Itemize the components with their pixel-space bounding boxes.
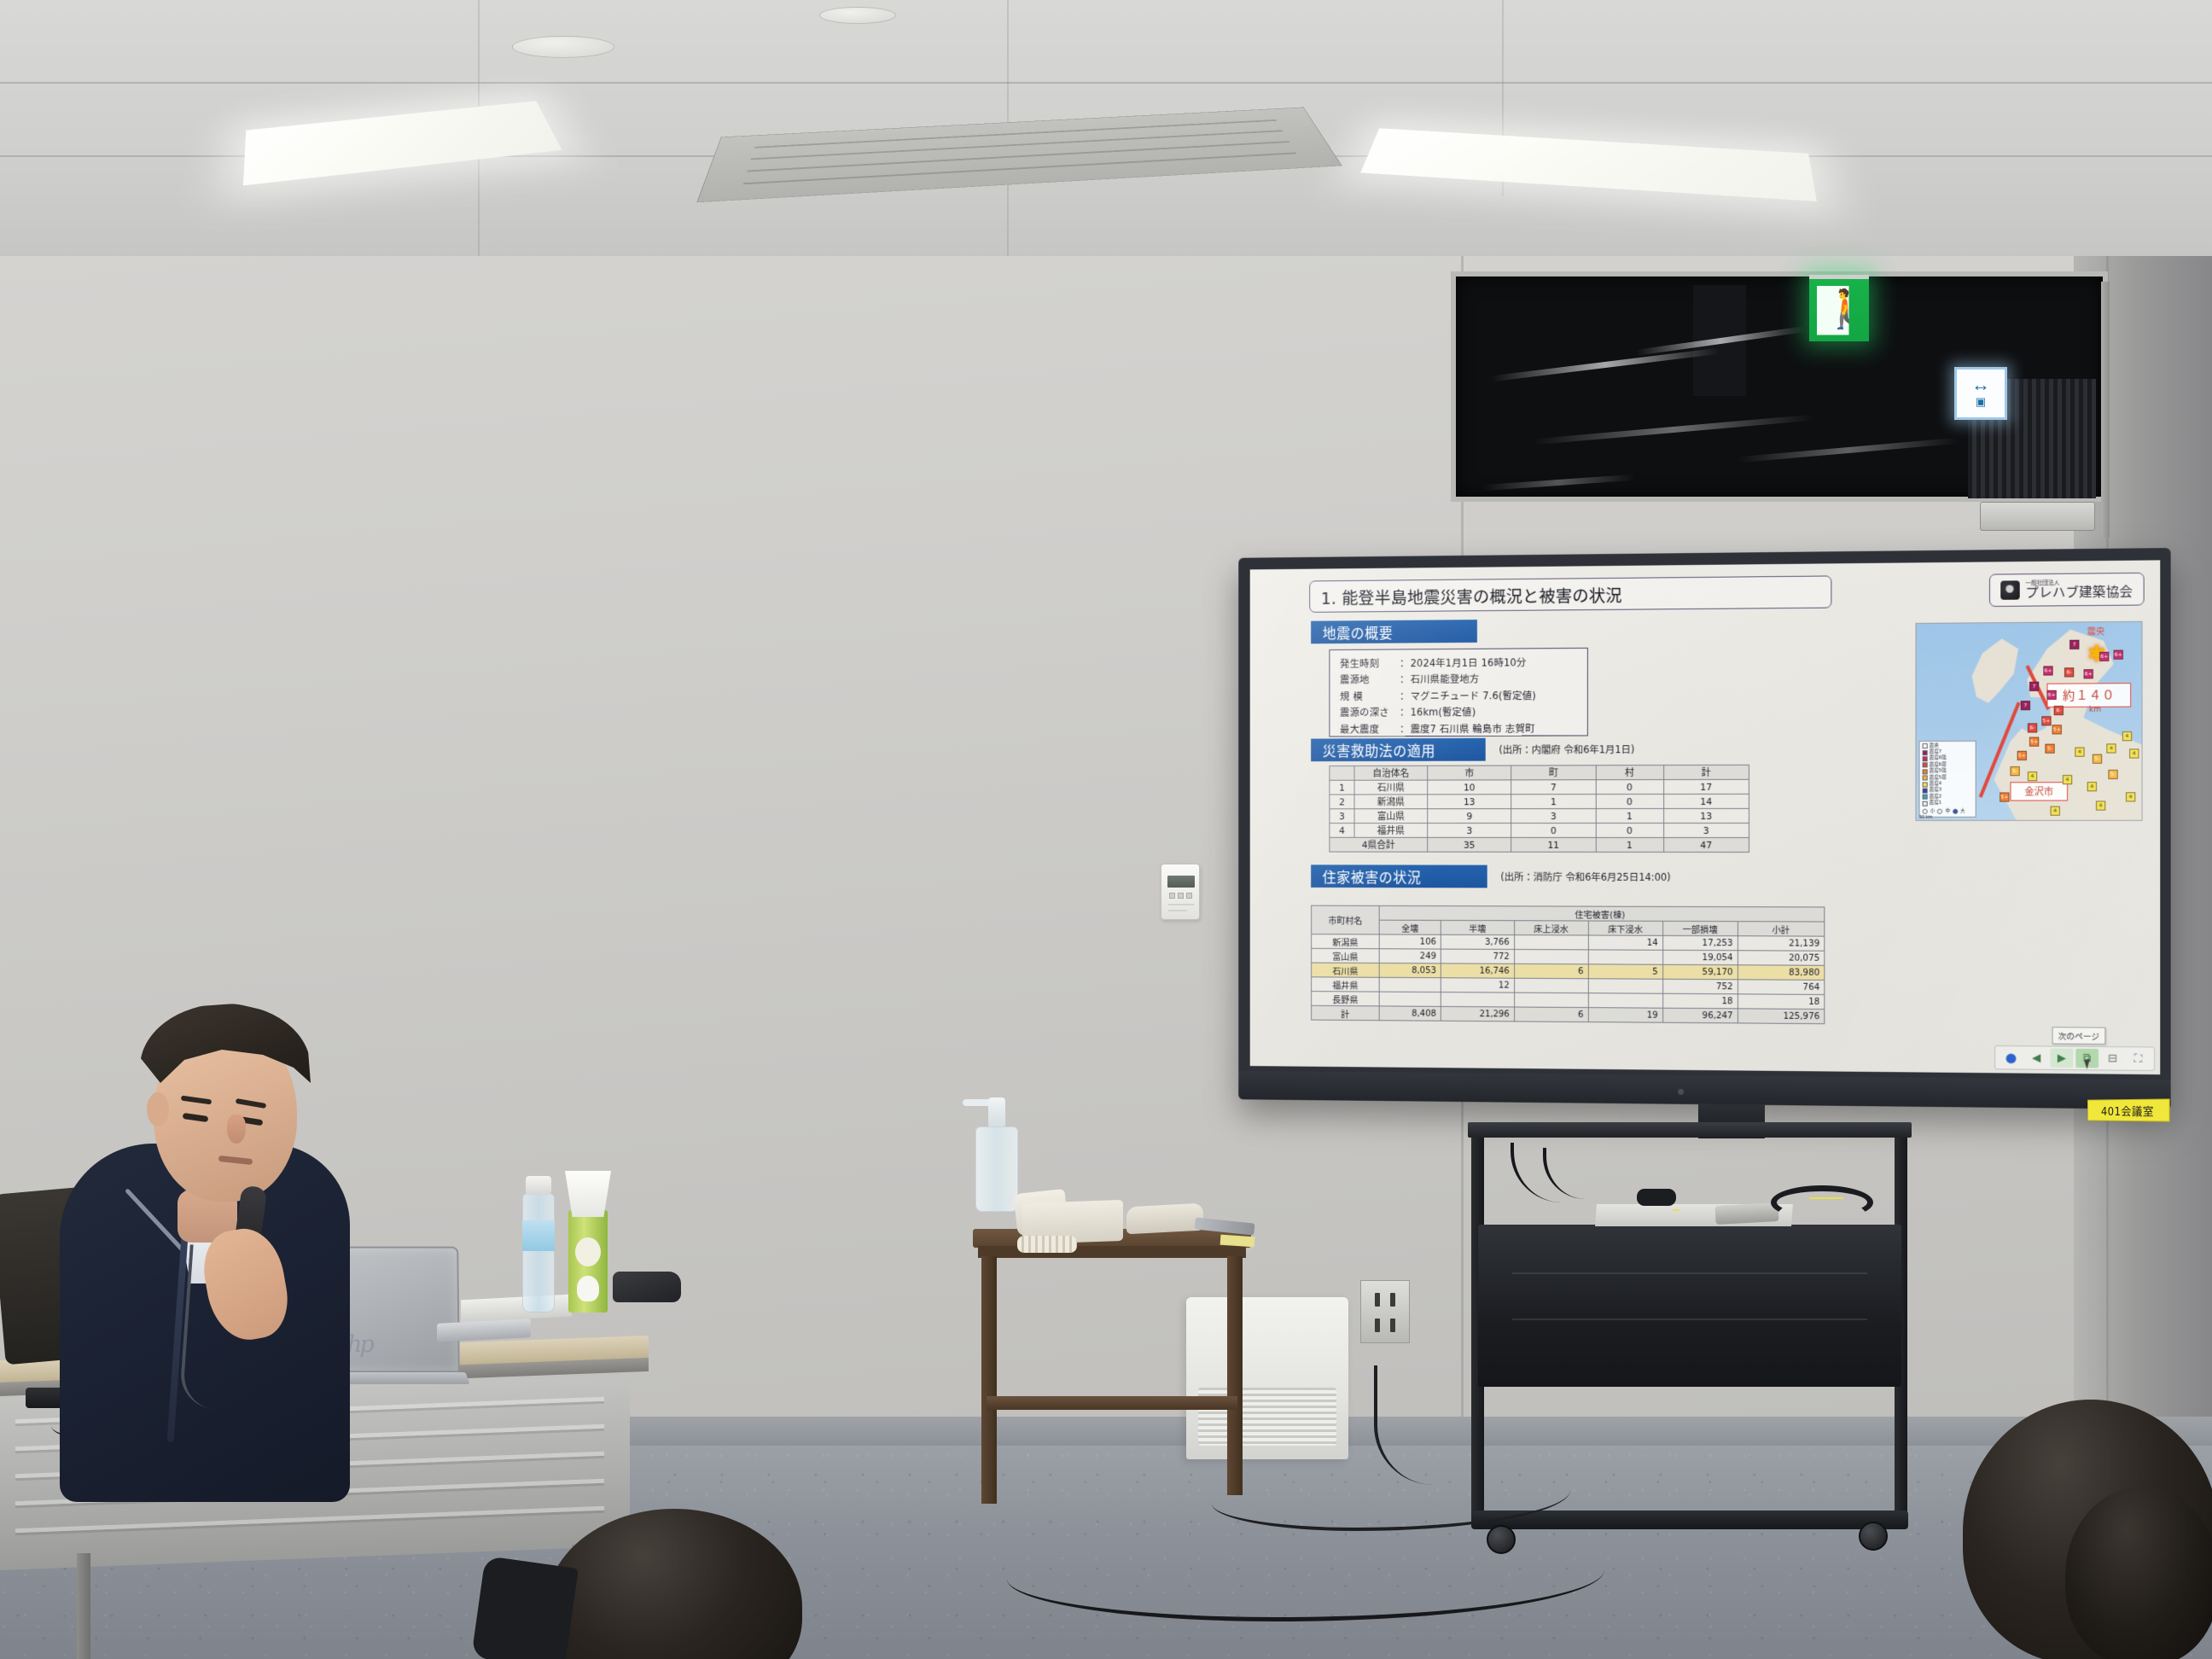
relief-source: (出所：内閣府 令和6年1月1日) bbox=[1499, 742, 1634, 756]
presentation-display[interactable]: 1. 能登半島地震災害の概況と被害の状況 一般社団法人 プレハブ建築協会 地震の… bbox=[1238, 548, 2170, 1109]
association-logo: 一般社団法人 プレハブ建築協会 bbox=[1989, 573, 2145, 607]
map-intensity-marker: 6+ bbox=[2114, 650, 2123, 660]
relief-law-table: 自治体名 市 町 村 計 1 石川県 10 7 0 17 bbox=[1329, 765, 1749, 853]
association-logo-icon bbox=[2000, 580, 2019, 599]
double-arrow-icon: ↔ bbox=[1971, 376, 1990, 393]
map-intensity-marker: 5- bbox=[2045, 744, 2054, 754]
map-intensity-marker: 4 bbox=[2096, 800, 2105, 810]
map-intensity-marker: 6- bbox=[2064, 667, 2074, 677]
ac-lcd-display bbox=[1167, 876, 1195, 888]
table-total-row: 計 8,408 21,296 6 19 96,247 125,976 bbox=[1312, 1005, 1825, 1023]
map-intensity-marker: 4 bbox=[2051, 806, 2060, 816]
map-intensity-marker: 6+ bbox=[2099, 652, 2109, 661]
fullscreen-icon[interactable]: ⛶ bbox=[2127, 1049, 2150, 1068]
map-intensity-marker: 6+ bbox=[2046, 690, 2056, 700]
legend-item: 震度6強 bbox=[1923, 755, 1973, 762]
cart-device bbox=[1637, 1189, 1676, 1206]
ceiling-dome-light bbox=[512, 36, 614, 58]
section-heading-housing: 住家被害の状況 bbox=[1311, 864, 1487, 888]
presenter-ear bbox=[147, 1092, 169, 1126]
slide-title: 1. 能登半島地震災害の概況と被害の状況 bbox=[1309, 575, 1831, 612]
map-intensity-marker: 4 bbox=[2063, 775, 2072, 784]
overview-row: 震源の深さ：16km(暫定値) bbox=[1340, 704, 1587, 722]
desk-leg bbox=[77, 1553, 90, 1659]
water-bottle-cap bbox=[526, 1176, 551, 1195]
ac-button[interactable] bbox=[1186, 893, 1192, 899]
map-intensity-marker: 6+ bbox=[2084, 669, 2093, 678]
map-distance-label: 約１４０ bbox=[2046, 683, 2131, 707]
telephone-cord bbox=[1017, 1236, 1077, 1253]
housing-damage-table: 市町村名 住宅被害(棟) 全壊 半壊 床上浸水 床下浸水 一部損壊 小計 新潟県 bbox=[1311, 905, 1825, 1025]
legend-item: 震度5強 bbox=[1923, 768, 1973, 775]
water-bottle bbox=[522, 1193, 555, 1313]
map-epicenter-label: 震央 bbox=[2087, 624, 2105, 637]
map-intensity-marker: 5- bbox=[2108, 770, 2117, 779]
legend-item: 震度1 bbox=[1923, 800, 1973, 807]
table-row: 4 福井県 3 0 0 3 bbox=[1330, 823, 1749, 837]
radio-medium[interactable] bbox=[1937, 809, 1942, 814]
wall-outlet[interactable] bbox=[1360, 1280, 1410, 1343]
split-view-icon[interactable]: ⊟ bbox=[2101, 1049, 2124, 1068]
presenter-nose bbox=[227, 1115, 246, 1144]
slide-canvas: 1. 能登半島地震災害の概況と被害の状況 一般社団法人 プレハブ建築協会 地震の… bbox=[1250, 560, 2161, 1074]
map-intensity-marker: 5+ bbox=[2052, 725, 2062, 734]
table-row: 1 石川県 10 7 0 17 bbox=[1330, 779, 1749, 795]
map-intensity-marker: 4 bbox=[2122, 731, 2132, 741]
sanitizer-pump-head[interactable] bbox=[988, 1097, 1005, 1128]
side-table-shelf bbox=[987, 1396, 1237, 1410]
ac-button[interactable] bbox=[1169, 893, 1175, 899]
earthquake-overview-box: 発生時刻：2024年1月1日 16時10分 震源地：石川県能登地方 規 模：マグ… bbox=[1329, 648, 1587, 737]
paper-cup bbox=[565, 1171, 611, 1217]
cart-base bbox=[1471, 1511, 1908, 1529]
map-intensity-marker: 5+ bbox=[2000, 792, 2009, 801]
remote-control[interactable] bbox=[1714, 1202, 1778, 1225]
next-page-icon[interactable]: ▶ bbox=[2051, 1049, 2074, 1068]
map-intensity-marker: 7 bbox=[2029, 682, 2039, 691]
legend-epicenter-icon bbox=[1923, 743, 1928, 748]
map-intensity-marker: 5+ bbox=[2017, 751, 2027, 760]
conference-room-scene: 🚶 ↔ ▣ 1. 能登半島地震災害の概況と被害の状況 一般社団法人 プレハブ建築… bbox=[0, 0, 2212, 1659]
coiled-cable bbox=[1771, 1185, 1873, 1220]
table-total-row: 4県合計 35 11 1 47 bbox=[1330, 837, 1749, 852]
green-tea-can-label bbox=[575, 1237, 601, 1266]
transom-window bbox=[1451, 271, 2108, 502]
ac-wall-controller[interactable] bbox=[1161, 864, 1200, 920]
previous-page-icon[interactable]: ◀ bbox=[2025, 1048, 2048, 1068]
map-city-label: 金沢市 bbox=[2010, 782, 2068, 800]
window-reflection-light bbox=[1481, 474, 1635, 492]
map-intensity-marker: 4 bbox=[2106, 743, 2116, 753]
water-bottle-label bbox=[522, 1220, 555, 1251]
seismic-intensity-map: 震央 ✱ 約１４０ km 金沢市 7 6+ 6+ 6+ 6- 6+ 7 6+ 7… bbox=[1915, 621, 2142, 821]
radio-small[interactable] bbox=[1923, 809, 1928, 814]
side-table-leg bbox=[981, 1256, 997, 1504]
cart-yellow-label bbox=[1673, 1209, 1679, 1211]
map-scale-label: 30 km bbox=[1919, 815, 1933, 820]
map-intensity-marker: 6+ bbox=[2043, 666, 2052, 675]
side-table-leg bbox=[1227, 1256, 1243, 1495]
exit-sign: 🚶 bbox=[1809, 275, 1869, 341]
green-tea-can-character bbox=[577, 1276, 599, 1301]
telephone-second-unit bbox=[1126, 1203, 1203, 1235]
door-closer bbox=[1980, 502, 2095, 531]
table-row: 2 新潟県 13 1 0 14 bbox=[1330, 794, 1749, 808]
housing-source: (出所：消防庁 令和6年6月25日14:00) bbox=[1500, 870, 1670, 884]
window-reflection-light bbox=[1738, 438, 1959, 463]
display-power-led bbox=[1678, 1089, 1684, 1095]
map-intensity-marker: 7 bbox=[2021, 701, 2030, 710]
map-legend: 震央 震度7 震度6強 震度6弱 震度5強 震度5弱 震度4 震度3 震度2 震… bbox=[1919, 740, 1976, 817]
overview-row: 震源地：石川県能登地方 bbox=[1340, 671, 1587, 689]
overview-row: 発生時刻：2024年1月1日 16時10分 bbox=[1340, 655, 1587, 672]
table-row: 3 富山県 9 3 1 13 bbox=[1330, 808, 1749, 823]
map-intensity-marker: 4 bbox=[2126, 792, 2135, 801]
cart-caster-wheel bbox=[1859, 1522, 1888, 1551]
map-intensity-marker: 4 bbox=[2129, 748, 2139, 758]
association-logo-main: プレハブ建築協会 bbox=[2025, 585, 2133, 599]
ac-button[interactable] bbox=[1178, 893, 1184, 899]
toolbar-tooltip: 次のページ bbox=[2052, 1027, 2105, 1045]
map-intensity-marker: 5- bbox=[2010, 766, 2019, 776]
window-mullion bbox=[2101, 282, 2110, 538]
map-intensity-marker: 4 bbox=[2075, 748, 2084, 757]
section-heading-relief: 災害救助法の適用 bbox=[1311, 738, 1486, 761]
exit-running-man-icon: 🚶 bbox=[1817, 286, 1861, 335]
door-icon: ▣ bbox=[1976, 393, 1986, 410]
map-intensity-marker: 4 bbox=[2028, 771, 2037, 781]
audience-head bbox=[2065, 1487, 2212, 1659]
map-intensity-marker: 6- bbox=[2054, 706, 2064, 715]
legend-item: 震度3 bbox=[1923, 788, 1973, 795]
backpack-strap bbox=[471, 1556, 579, 1659]
overview-row: 規 模：マグニチュード 7.6(暫定値) bbox=[1340, 688, 1587, 706]
ceiling-seam bbox=[0, 82, 2212, 84]
desk-pouch bbox=[613, 1272, 681, 1302]
ceiling-dome-light bbox=[819, 7, 896, 24]
section-heading-overview: 地震の概要 bbox=[1311, 620, 1477, 643]
map-intensity-marker: 4 bbox=[2087, 782, 2097, 791]
presenter bbox=[51, 973, 410, 1502]
cart-top-shelf bbox=[1468, 1122, 1912, 1138]
cart-cabinet bbox=[1478, 1225, 1901, 1387]
map-intensity-marker: 6- bbox=[2028, 723, 2037, 732]
map-distance-unit: km bbox=[2089, 706, 2101, 714]
window-reflection-light bbox=[1533, 415, 1813, 445]
map-intensity-marker: 7 bbox=[2069, 640, 2079, 649]
slide-toolbar[interactable]: ● ◀ ▶ ⧉ ⊟ ⛶ bbox=[1994, 1045, 2155, 1071]
side-table bbox=[973, 1229, 1254, 1536]
map-intensity-marker: 5- bbox=[2093, 754, 2102, 764]
hand-sanitizer-bottle bbox=[975, 1126, 1018, 1212]
laser-pointer-icon[interactable]: ● bbox=[2000, 1048, 2023, 1068]
legend-item: 震度5弱 bbox=[1923, 775, 1973, 782]
door-direction-sign: ↔ ▣ bbox=[1954, 367, 2007, 420]
radio-large-selected[interactable] bbox=[1953, 809, 1958, 814]
map-intensity-marker: 5+ bbox=[2029, 737, 2039, 747]
room-number-sign: 401会議室 bbox=[2087, 1098, 2170, 1121]
overview-row: 最大震度：震度7 石川県 輪島市 志賀町 bbox=[1340, 720, 1587, 737]
map-intensity-marker: 5+ bbox=[2041, 716, 2051, 725]
legend-size-options: 小 中 大 bbox=[1923, 808, 1973, 815]
table-header-row: 自治体名 市 町 村 計 bbox=[1330, 765, 1749, 780]
window-reflection-light bbox=[1491, 348, 1720, 382]
